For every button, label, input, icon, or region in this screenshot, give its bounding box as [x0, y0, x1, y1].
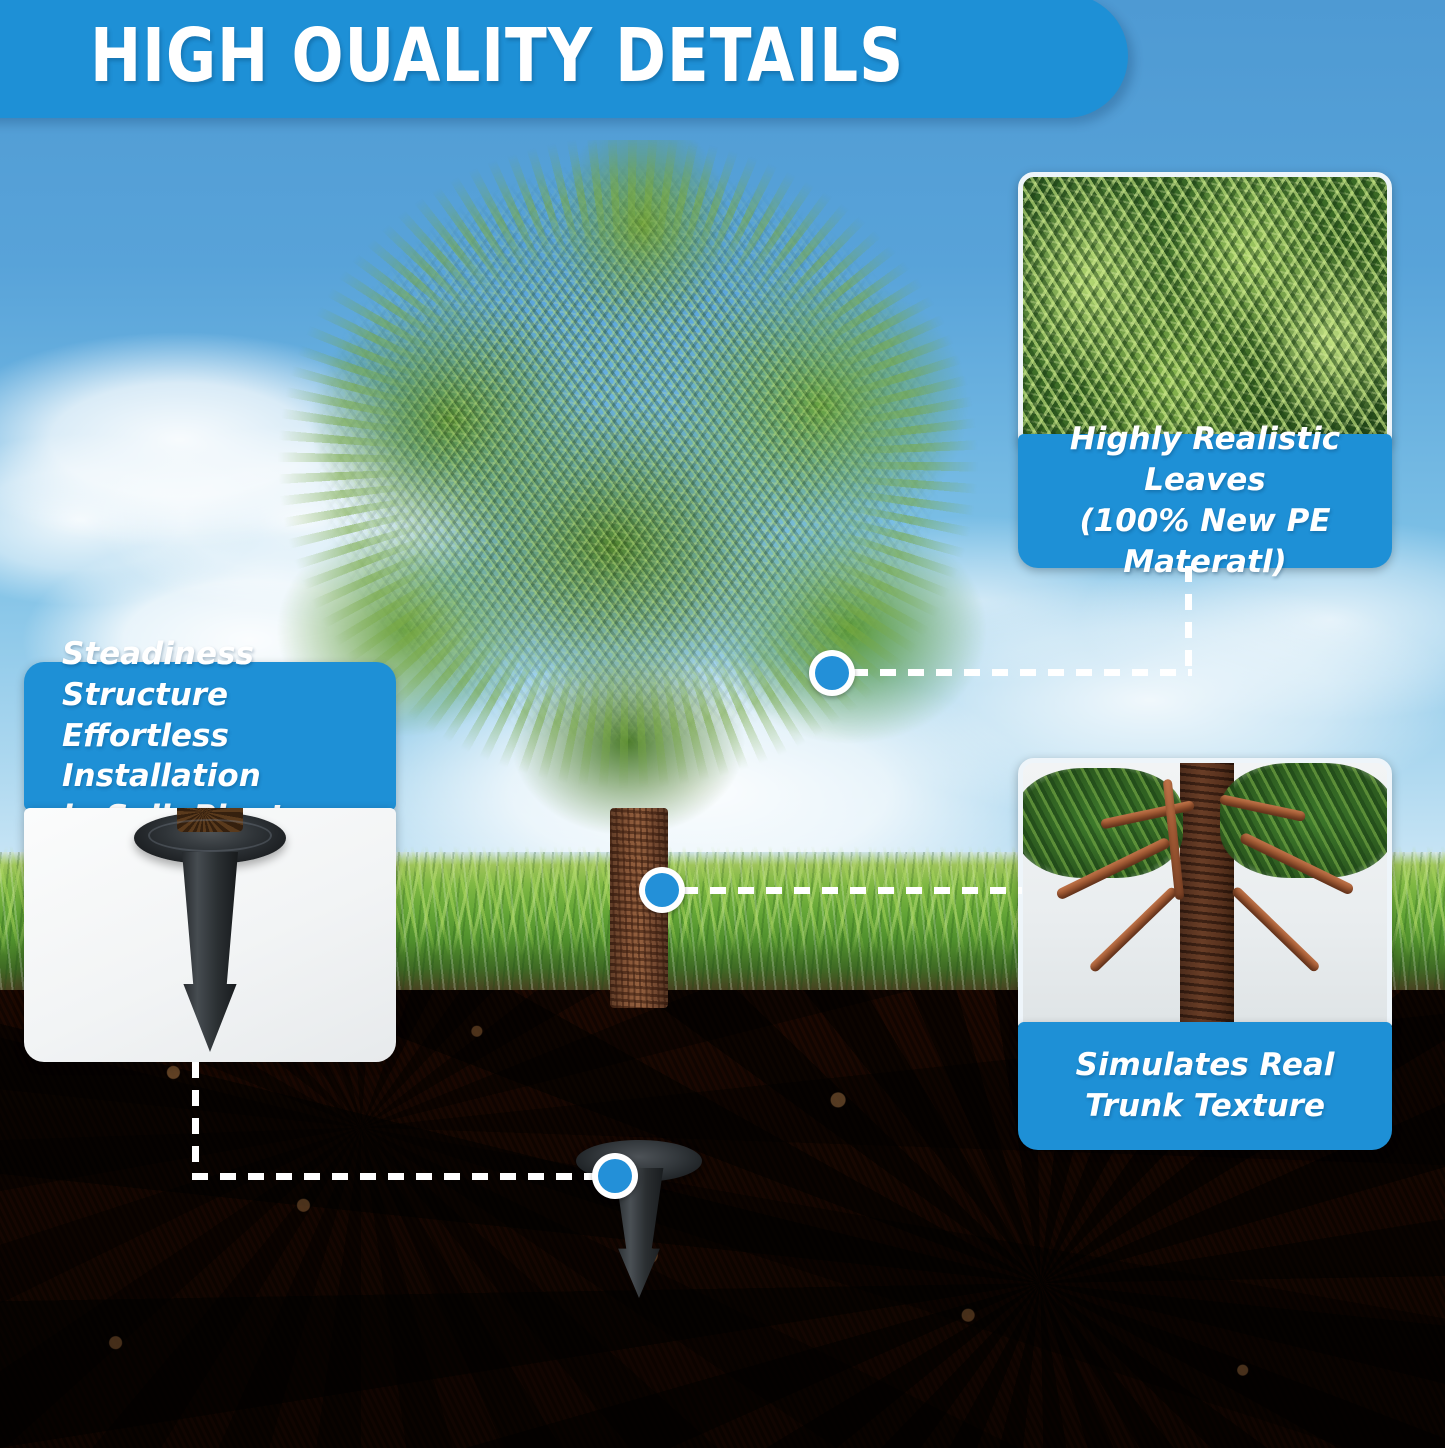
- trunk-photo-foliage-right: [1220, 763, 1392, 878]
- leaves-connector-line-v: [1185, 566, 1192, 673]
- leaves-callout-line1: Highly Realistic Leaves: [1032, 419, 1378, 501]
- trunk-photo-branch-5: [1231, 885, 1322, 973]
- trunk-callout-label: Simulates Real Trunk Texture: [1018, 1022, 1392, 1150]
- leaves-connector-line-h: [852, 669, 1192, 676]
- stake-connector-dot: [592, 1153, 638, 1199]
- leaves-closeup-photo: [1018, 172, 1392, 444]
- infographic-stage: HIGH OUALITY DETAILS Highly Realistic Le…: [0, 0, 1445, 1448]
- trunk-closeup-photo: [1018, 758, 1392, 1030]
- trunk-connector-line-h: [682, 887, 1022, 894]
- stake-closeup-photo: [24, 808, 396, 1062]
- trunk-connector-dot: [639, 867, 685, 913]
- leaves-photo-content: [1023, 177, 1387, 439]
- leaves-callout-label: Highly Realistic Leaves (100% New PE Mat…: [1018, 434, 1392, 568]
- trunk-callout-line1: Simulates Real: [1076, 1045, 1335, 1086]
- stake-callout-line1: Steadiness Structure: [62, 634, 358, 716]
- trunk-photo-content: [1023, 763, 1387, 1025]
- header-banner: HIGH OUALITY DETAILS: [0, 0, 1128, 118]
- page-title: HIGH OUALITY DETAILS: [90, 13, 904, 99]
- stake-photo-spike: [175, 852, 245, 1052]
- trunk-photo-branch-2: [1089, 885, 1180, 973]
- stake-connector-line-v: [192, 1062, 199, 1177]
- leaves-connector-dot: [809, 650, 855, 696]
- stake-callout-line2: Effortless Installation: [62, 716, 358, 798]
- leaves-callout-line2: (100% New PE Materatl): [1032, 501, 1378, 583]
- trunk-callout-line2: Trunk Texture: [1085, 1086, 1325, 1127]
- stake-photo-soil-ball: [177, 808, 243, 832]
- stake-connector-line-h: [192, 1173, 622, 1180]
- stake-callout-label: Steadiness Structure Effortless Installa…: [24, 662, 396, 810]
